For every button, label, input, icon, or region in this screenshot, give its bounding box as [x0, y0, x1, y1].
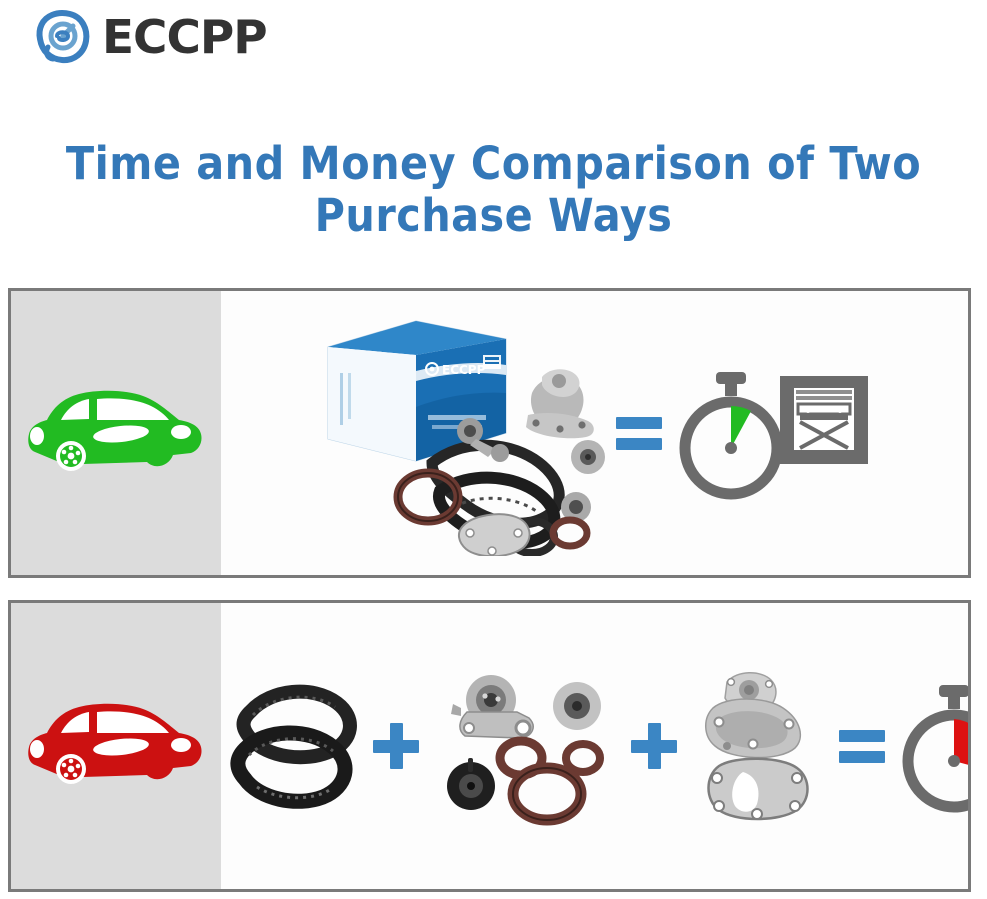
car-cell-red — [11, 603, 221, 889]
comparison-row-separate-purchase — [8, 600, 971, 892]
brand-logo-header: ECCPP — [32, 6, 263, 68]
result-time-kit — [668, 366, 870, 500]
car-cell-green — [11, 291, 221, 575]
page-title-line-2: Purchase Ways — [39, 190, 947, 242]
operator-plus-1 — [373, 723, 419, 769]
eccpp-hexagon-logo-icon — [32, 7, 94, 67]
operator-plus-2 — [631, 723, 677, 769]
parts-row-content — [221, 603, 971, 889]
equals-bar-bottom — [616, 438, 662, 450]
green-car-icon — [23, 378, 209, 488]
page-title-line-1: Time and Money Comparison of Two — [39, 138, 947, 190]
water-pump-gasket-icon — [683, 664, 833, 829]
timing-belt-icon — [227, 671, 367, 821]
equals-bar-top — [839, 730, 885, 742]
kit-row-content: ECCPP — [221, 291, 968, 575]
operator-equals-2 — [839, 726, 885, 766]
svg-text:ECCPP: ECCPP — [442, 363, 486, 377]
garage-car-lift-icon — [778, 374, 870, 466]
stopwatch-icon — [891, 679, 971, 813]
tensioner-pulley-seals-icon — [425, 666, 625, 826]
brand-wordmark: ECCPP — [102, 14, 267, 60]
equals-bar-top — [616, 417, 662, 429]
stopwatch-icon — [668, 366, 794, 500]
equals-bar-bottom — [839, 751, 885, 763]
operator-equals — [616, 413, 662, 453]
red-car-icon — [23, 691, 209, 801]
eccpp-timing-belt-kit-box-icon: ECCPP — [320, 311, 610, 556]
result-time-separate — [891, 679, 971, 813]
comparison-row-kit-purchase: ECCPP — [8, 288, 971, 578]
page-title: Time and Money Comparison of Two Purchas… — [0, 138, 987, 242]
